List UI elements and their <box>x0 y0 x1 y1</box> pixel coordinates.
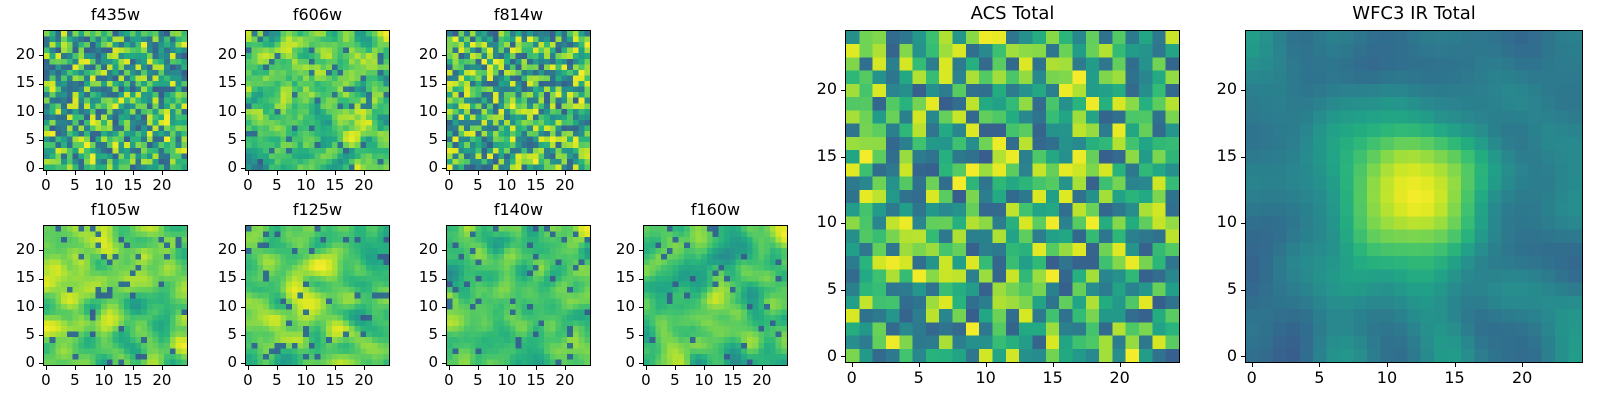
xticklabel-wfc3-ir-total-2: 10 <box>1362 370 1412 386</box>
xtick-wfc3-ir-total-0 <box>1252 363 1253 367</box>
ytick-wfc3-ir-total-3 <box>1241 157 1245 158</box>
xticklabel-wfc3-ir-total-3: 15 <box>1430 370 1480 386</box>
ytick-wfc3-ir-total-4 <box>1241 90 1245 91</box>
yticklabel-wfc3-ir-total-1: 5 <box>1185 281 1237 297</box>
yticklabel-wfc3-ir-total-0: 0 <box>1185 348 1237 364</box>
xtick-wfc3-ir-total-4 <box>1522 363 1523 367</box>
yticklabel-wfc3-ir-total-3: 15 <box>1185 148 1237 164</box>
ytick-wfc3-ir-total-1 <box>1241 290 1245 291</box>
xtick-wfc3-ir-total-2 <box>1387 363 1388 367</box>
ytick-wfc3-ir-total-2 <box>1241 223 1245 224</box>
xticklabel-wfc3-ir-total-1: 5 <box>1294 370 1344 386</box>
panel-title-wfc3-ir-total: WFC3 IR Total <box>1245 5 1583 23</box>
xticklabel-wfc3-ir-total-4: 20 <box>1497 370 1547 386</box>
xticklabel-wfc3-ir-total-0: 0 <box>1227 370 1277 386</box>
yticklabel-wfc3-ir-total-4: 20 <box>1185 81 1237 97</box>
figure-canvas: f435w0510152005101520f606w05101520051015… <box>0 0 1600 400</box>
axes-wfc3-ir-total <box>1245 30 1583 363</box>
xtick-wfc3-ir-total-1 <box>1319 363 1320 367</box>
ytick-wfc3-ir-total-0 <box>1241 356 1245 357</box>
panel-wfc3-ir-total: WFC3 IR Total0510152005101520 <box>0 0 1600 400</box>
yticklabel-wfc3-ir-total-2: 10 <box>1185 214 1237 230</box>
xtick-wfc3-ir-total-3 <box>1455 363 1456 367</box>
heatmap-image-wfc3-ir-total <box>1246 31 1582 362</box>
